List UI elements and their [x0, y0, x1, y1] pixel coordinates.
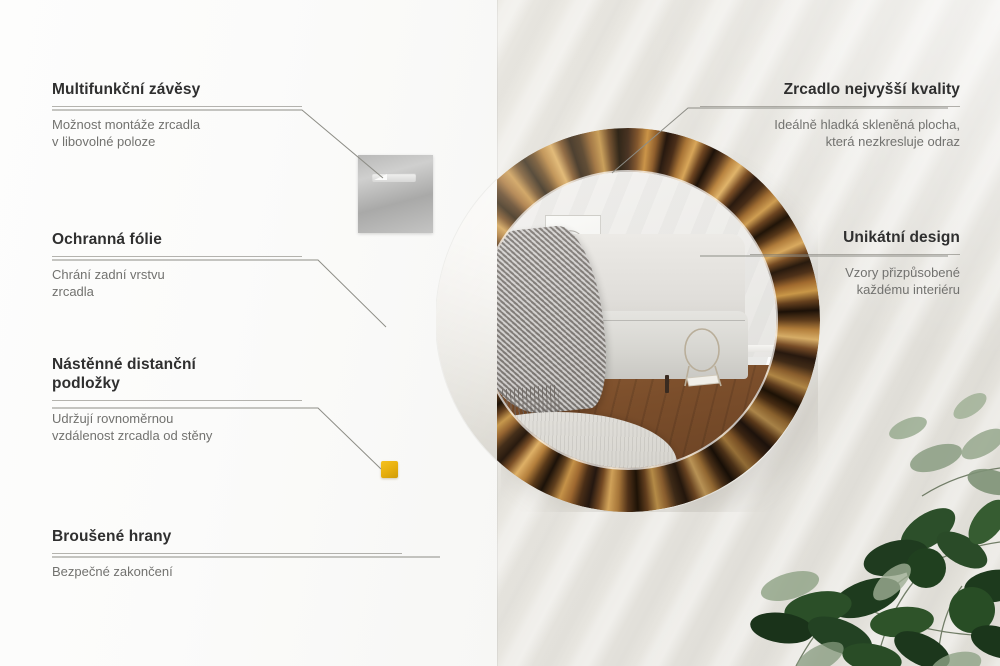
label-ochranna-folie: Ochranná fólie Chrání zadní vrstvu zrcad… [52, 230, 302, 300]
infographic-canvas: Multifunkční závěsy Možnost montáže zrca… [0, 0, 1000, 666]
label-rule [52, 256, 302, 257]
label-nastenne-distancni-podlozky: Nástěnné distanční podložky Udržují rovn… [52, 355, 302, 444]
label-title: Ochranná fólie [52, 230, 302, 249]
label-unikatni-design: Unikátní design Vzory přizpůsobené každé… [750, 228, 960, 298]
label-rule [52, 106, 302, 107]
label-title: Unikátní design [750, 228, 960, 247]
label-description: Vzory přizpůsobené každému interiéru [750, 264, 960, 298]
label-description: Ideálně hladká skleněná plocha, která ne… [700, 116, 960, 150]
label-title: Multifunkční závěsy [52, 80, 302, 99]
label-zrcadlo-nejvyssi-kvality: Zrcadlo nejvyšší kvality Ideálně hladká … [700, 80, 960, 150]
label-description: Možnost montáže zrcadla v libovolné polo… [52, 116, 302, 150]
label-rule [750, 254, 960, 255]
label-title: Zrcadlo nejvyšší kvality [700, 80, 960, 99]
label-rule [52, 553, 402, 554]
label-title: Broušené hrany [52, 527, 402, 546]
label-multifunkcni-zavesy: Multifunkční závěsy Možnost montáže zrca… [52, 80, 302, 150]
label-description: Chrání zadní vrstvu zrcadla [52, 266, 302, 300]
label-title: Nástěnné distanční podložky [52, 355, 302, 393]
label-description: Udržují rovnoměrnou vzdálenost zrcadla o… [52, 410, 302, 444]
label-rule [52, 400, 302, 401]
label-description: Bezpečné zakončení [52, 563, 402, 580]
decorative-plant-leaves [670, 336, 1000, 666]
label-brousene-hrany: Broušené hrany Bezpečné zakončení [52, 527, 402, 580]
label-rule [700, 106, 960, 107]
